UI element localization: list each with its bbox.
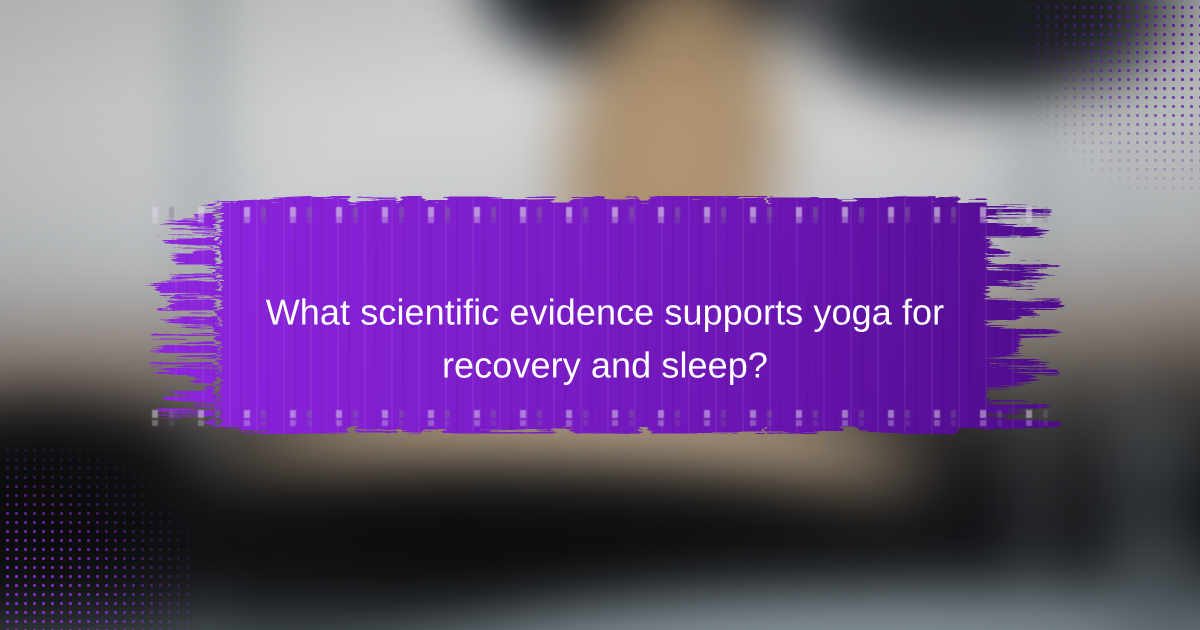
halftone-dots-bottom-left-icon [0, 446, 194, 630]
brush-streak-bottom-1 [145, 410, 1065, 418]
brush-streak-top-2 [145, 217, 1065, 223]
share-card: What scientific evidence supports yoga f… [0, 0, 1200, 630]
brush-streak-top-1 [145, 207, 1065, 217]
title-banner: What scientific evidence supports yoga f… [145, 196, 1065, 434]
halftone-dots-top-right-icon [1016, 0, 1200, 194]
brush-streak-bottom-2 [145, 420, 1065, 426]
page-title: What scientific evidence supports yoga f… [145, 286, 1065, 393]
